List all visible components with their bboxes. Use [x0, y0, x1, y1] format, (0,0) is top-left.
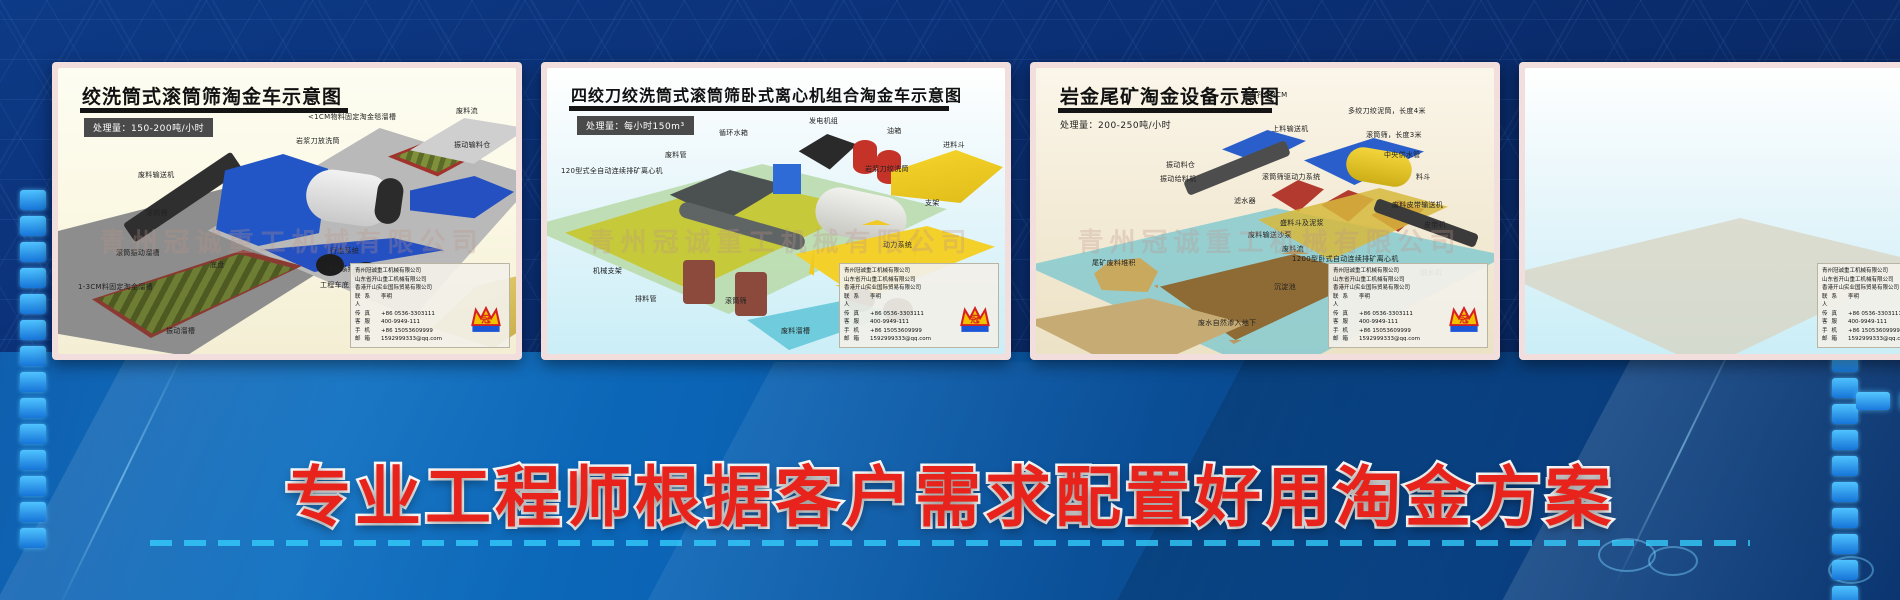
contact-key: 传真	[355, 310, 381, 319]
contact-value: 400-9949-111	[381, 318, 420, 327]
contact-value: 1592999333@qq.com	[870, 335, 931, 344]
panel-1-title: 绞洗筒式滚筒筛淘金车示意图	[82, 82, 342, 109]
panel-label: 振动料仓	[1166, 160, 1195, 170]
diagram-panel-2[interactable]: 四绞刀绞洗筒式滚筒筛卧式离心机组合淘金车示意图 处理量：每小时150m³ 发电机…	[541, 62, 1011, 360]
crown-logo-icon: 冠	[1447, 303, 1481, 337]
panel-label: 发电机组	[809, 116, 838, 126]
panel-3-title-rule	[1058, 108, 1272, 113]
panel-label: 振动溜槽	[166, 326, 195, 336]
company-name: 青州冠诚重工机械有限公司	[844, 267, 994, 276]
contact-key: 客服	[355, 318, 381, 327]
waste-barrel-2	[735, 272, 767, 316]
poster-canvas: 绞洗筒式滚筒筛淘金车示意图 处理量：150-200吨/小时 <1CM物料固定淘金…	[0, 0, 1900, 600]
contact-card: 青州冠诚重工机械有限公司 山东省开山重工机械有限公司 香港开山实业国际贸易有限公…	[839, 263, 999, 348]
panel-label: 废料输送机	[138, 170, 175, 180]
panel-label: 滚筒筛，长度3米	[1366, 130, 1422, 140]
contact-card: 青州冠诚重工机械有限公司 山东省开山重工机械有限公司 香港开山实业国际贸易有限公…	[350, 263, 510, 348]
panel-3-canvas: 岩金尾矿淘金设备示意图 处理量：200-250吨/小时 筛网孔径3CM 多绞刀绞…	[1036, 68, 1494, 354]
contact-value: +86 15053609999	[870, 327, 922, 336]
panel-3-capacity: 处理量：200-250吨/小时	[1060, 118, 1171, 131]
panel-2-canvas: 四绞刀绞洗筒式滚筒筛卧式离心机组合淘金车示意图 处理量：每小时150m³ 发电机…	[547, 68, 1005, 354]
company-name: 青州冠诚重工机械有限公司	[1822, 267, 1900, 276]
contact-key: 传真	[1822, 310, 1848, 319]
panel-4-canvas: 青州冠诚重工机械有限公司 山东省开山重工机械有限公司 香港开山实业国际贸易有限公…	[1525, 68, 1900, 354]
panel-label: 进料斗	[943, 140, 965, 150]
contact-value: +86 15053609999	[1359, 327, 1411, 336]
contact-key: 手机	[844, 327, 870, 336]
blue-cyclone	[773, 164, 801, 194]
company-name: 山东省开山重工机械有限公司	[1333, 276, 1483, 285]
panel-label: 多绞刀绞泥筒，长度4米	[1348, 106, 1426, 116]
diagram-panel-row: 绞洗筒式滚筒筛淘金车示意图 处理量：150-200吨/小时 <1CM物料固定淘金…	[0, 62, 1900, 362]
panel-2-title-rule	[569, 106, 949, 111]
contact-value: 李明	[381, 293, 392, 310]
panel-label: <1CM物料固定淘金毯溜槽	[308, 112, 396, 122]
contact-card: 青州冠诚重工机械有限公司 山东省开山重工机械有限公司 香港开山实业国际贸易有限公…	[1817, 263, 1900, 348]
contact-value: 400-9949-111	[870, 318, 909, 327]
contact-value: 李明	[870, 293, 881, 310]
panel-label: 上料输送机	[1272, 124, 1309, 134]
contact-key: 邮箱	[1333, 335, 1359, 344]
contact-row: 邮箱1592999333@qq.com	[1822, 335, 1900, 344]
company-name: 香港开山实业国际贸易有限公司	[355, 284, 505, 293]
contact-value: +86 15053609999	[1848, 327, 1900, 336]
contact-value: +86 15053609999	[381, 327, 433, 336]
contact-value: 李明	[1848, 293, 1859, 310]
contact-value: +86 0536-3303111	[1359, 310, 1413, 319]
panel-label: 振动给料机	[1160, 174, 1197, 184]
company-name: 山东省开山重工机械有限公司	[844, 276, 994, 285]
contact-value: +86 0536-3303111	[381, 310, 435, 319]
company-name: 山东省开山重工机械有限公司	[1822, 276, 1900, 285]
contact-key: 客服	[1333, 318, 1359, 327]
panel-label: 循环水箱	[719, 128, 748, 138]
contact-key: 联系人	[355, 293, 381, 310]
contact-value: 1592999333@qq.com	[381, 335, 442, 344]
contact-row: 客服400-9949-111	[1822, 318, 1900, 327]
crown-logo-icon: 冠	[958, 303, 992, 337]
panel-label: 废料管	[665, 150, 687, 160]
panel-label: 机械支架	[593, 266, 622, 276]
panel-2-title: 四绞刀绞洗筒式滚筒筛卧式离心机组合淘金车示意图	[571, 82, 962, 106]
contact-card: 青州冠诚重工机械有限公司 山东省开山重工机械有限公司 香港开山实业国际贸易有限公…	[1328, 263, 1488, 348]
panel-1-capacity: 处理量：150-200吨/小时	[84, 118, 213, 137]
contact-value: 1592999333@qq.com	[1848, 335, 1900, 344]
contact-row: 手机+86 15053609999	[1822, 327, 1900, 336]
panel-label: 盛料斗及泥浆	[1280, 218, 1324, 228]
contact-key: 传真	[1333, 310, 1359, 319]
panel-label: 滚筒振动溜槽	[116, 248, 160, 258]
decorative-ring-2	[1648, 546, 1698, 576]
panel-1-canvas: 绞洗筒式滚筒筛淘金车示意图 处理量：150-200吨/小时 <1CM物料固定淘金…	[58, 68, 516, 354]
contact-key: 联系人	[844, 293, 870, 310]
contact-value: 李明	[1359, 293, 1370, 310]
contact-key: 手机	[1822, 327, 1848, 336]
svg-text:冠: 冠	[970, 315, 980, 326]
svg-text:冠: 冠	[1459, 315, 1469, 326]
panel-label: 行走系统	[330, 246, 359, 256]
panel-label: 料斗	[1416, 172, 1431, 182]
panel-label: 废料输送沙泵	[1248, 230, 1292, 240]
diagram-panel-3[interactable]: 岩金尾矿淘金设备示意图 处理量：200-250吨/小时 筛网孔径3CM 多绞刀绞…	[1030, 62, 1500, 360]
contact-key: 客服	[844, 318, 870, 327]
panel-label: 中央供水管	[1384, 150, 1421, 160]
panel-label: 废料皮带输送机	[1392, 200, 1443, 210]
panel-label: 滚筒筛	[725, 296, 747, 306]
company-name: 香港开山实业国际贸易有限公司	[1822, 284, 1900, 293]
panel-label: 沉淀池	[1274, 282, 1296, 292]
panel-label: 废水自然渗入地下	[1198, 318, 1256, 328]
contact-key: 邮箱	[1822, 335, 1848, 344]
poster-headline: 专业工程师根据客户需求配置好用淘金方案	[0, 444, 1900, 540]
panel-label: 筛网孔径3CM	[1242, 90, 1287, 100]
crown-logo-icon: 冠	[469, 303, 503, 337]
company-name: 香港开山实业国际贸易有限公司	[844, 284, 994, 293]
panel-label: 支架	[925, 198, 940, 208]
panel-label: 废料溜槽	[781, 326, 810, 336]
panel-label: 废料流	[1282, 244, 1304, 254]
waste-barrel-1	[683, 260, 715, 304]
panel-label: 皮带机	[1424, 220, 1446, 230]
panel-label: 废料流	[456, 106, 478, 116]
company-name: 青州冠诚重工机械有限公司	[355, 267, 505, 276]
contact-row: 传真+86 0536-3303111	[1822, 310, 1900, 319]
film-strip-top-right	[1856, 392, 1900, 410]
panel-label: 排料管	[635, 294, 657, 304]
contact-row: 联系人李明	[1822, 293, 1900, 310]
panel-label: 滚筒筛驱动力系统	[1262, 172, 1320, 182]
svg-text:冠: 冠	[481, 315, 491, 326]
panel-label: 振动输料仓	[454, 140, 491, 150]
contact-value: 400-9949-111	[1848, 318, 1887, 327]
panel-label: 尾矿废料堆积	[1092, 258, 1136, 268]
panel-label: 滚筒筛	[146, 208, 168, 218]
panel-label: 油箱	[887, 126, 902, 136]
panel-label: 滤水器	[1234, 196, 1256, 206]
company-name: 香港开山实业国际贸易有限公司	[1333, 284, 1483, 293]
company-name: 青州冠诚重工机械有限公司	[1333, 267, 1483, 276]
contact-value: 400-9949-111	[1359, 318, 1398, 327]
contact-value: +86 0536-3303111	[870, 310, 924, 319]
headline-underline-dashes	[150, 540, 1750, 546]
contact-key: 客服	[1822, 318, 1848, 327]
panel-label: 动力系统	[883, 240, 912, 250]
contact-key: 传真	[844, 310, 870, 319]
panel-label: 岩浆刀绞洗筒	[865, 164, 909, 174]
panel-2-capacity: 处理量：每小时150m³	[577, 116, 694, 135]
company-name: 山东省开山重工机械有限公司	[355, 276, 505, 285]
diagram-panel-1[interactable]: 绞洗筒式滚筒筛淘金车示意图 处理量：150-200吨/小时 <1CM物料固定淘金…	[52, 62, 522, 360]
contact-key: 邮箱	[355, 335, 381, 344]
panel-label: 120型式全自动连续排矿离心机	[561, 166, 663, 176]
panel-label: 岩浆刀放洗筒	[296, 136, 340, 146]
panel-label: 1-3CM料固定淘金溜槽	[78, 282, 153, 292]
contact-value: +86 0536-3303111	[1848, 310, 1900, 319]
contact-key: 手机	[1333, 327, 1359, 336]
contact-value: 1592999333@qq.com	[1359, 335, 1420, 344]
contact-key: 联系人	[1822, 293, 1848, 310]
panel-label: 底盘	[210, 260, 225, 270]
contact-key: 手机	[355, 327, 381, 336]
contact-key: 邮箱	[844, 335, 870, 344]
diagram-panel-4-partial[interactable]: 青州冠诚重工机械有限公司 山东省开山重工机械有限公司 香港开山实业国际贸易有限公…	[1519, 62, 1900, 360]
contact-key: 联系人	[1333, 293, 1359, 310]
